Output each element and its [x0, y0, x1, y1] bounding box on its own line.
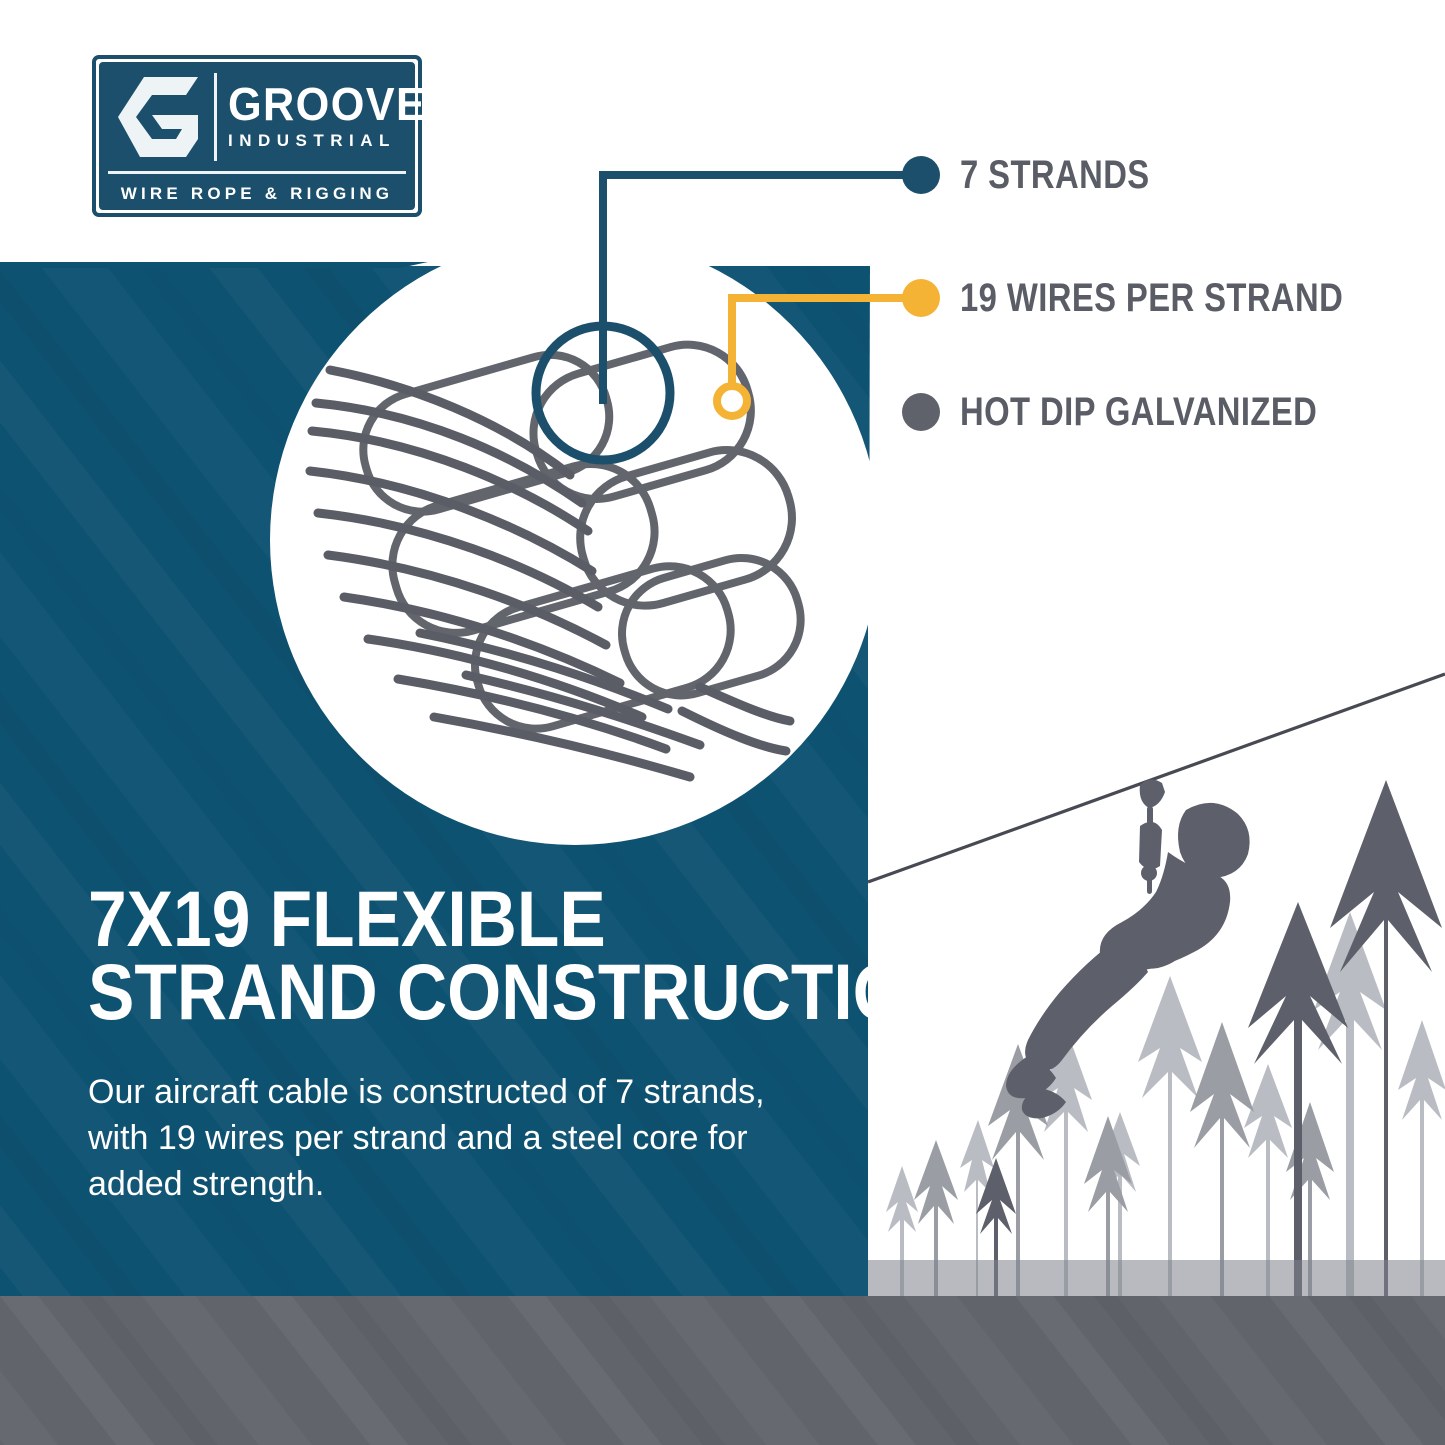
callout-label-hot-dip: HOT DIP GALVANIZED [960, 390, 1317, 435]
bottom-bar [0, 1296, 1445, 1445]
logo-inner-frame: GROOVE INDUSTRIAL WIRE ROPE & RIGGING [99, 62, 415, 210]
headline-line-2: STRAND CONSTRUCTION [88, 955, 739, 1028]
callout-row-7-strands: 7 STRANDS [960, 153, 1191, 198]
logo-rule [108, 171, 406, 174]
callout-label-7-strands: 7 STRANDS [960, 153, 1150, 198]
groove-g-monogram-icon [102, 65, 212, 169]
logo-tagline-row: WIRE ROPE & RIGGING [102, 175, 412, 213]
logo-name: GROOVE [228, 83, 426, 127]
headline-block: 7X19 FLEXIBLE STRAND CONSTRUCTION Our ai… [88, 882, 828, 1208]
headline-line-1: 7X19 FLEXIBLE [88, 882, 739, 955]
callout-row-19-wires: 19 WIRES PER STRAND [960, 276, 1427, 321]
logo-wordmark: GROOVE INDUSTRIAL [212, 65, 439, 169]
callout-row-hot-dip: HOT DIP GALVANIZED [960, 390, 1396, 435]
brand-logo[interactable]: GROOVE INDUSTRIAL WIRE ROPE & RIGGING [92, 55, 422, 217]
callout-dot-19-wires [902, 279, 940, 317]
body-copy: Our aircraft cable is constructed of 7 s… [88, 1069, 788, 1208]
logo-subname: INDUSTRIAL [228, 131, 439, 151]
logo-tagline: WIRE ROPE & RIGGING [121, 184, 393, 204]
infographic-canvas: 7 STRANDS 19 WIRES PER STRAND HOT DIP GA… [0, 0, 1445, 1445]
logo-divider [214, 73, 217, 161]
logo-top-row: GROOVE INDUSTRIAL [102, 65, 412, 169]
callout-dot-7-strands [902, 156, 940, 194]
callout-label-19-wires: 19 WIRES PER STRAND [960, 276, 1343, 321]
callout-dot-hot-dip [902, 393, 940, 431]
orange-anchor-ring-icon [717, 386, 747, 416]
